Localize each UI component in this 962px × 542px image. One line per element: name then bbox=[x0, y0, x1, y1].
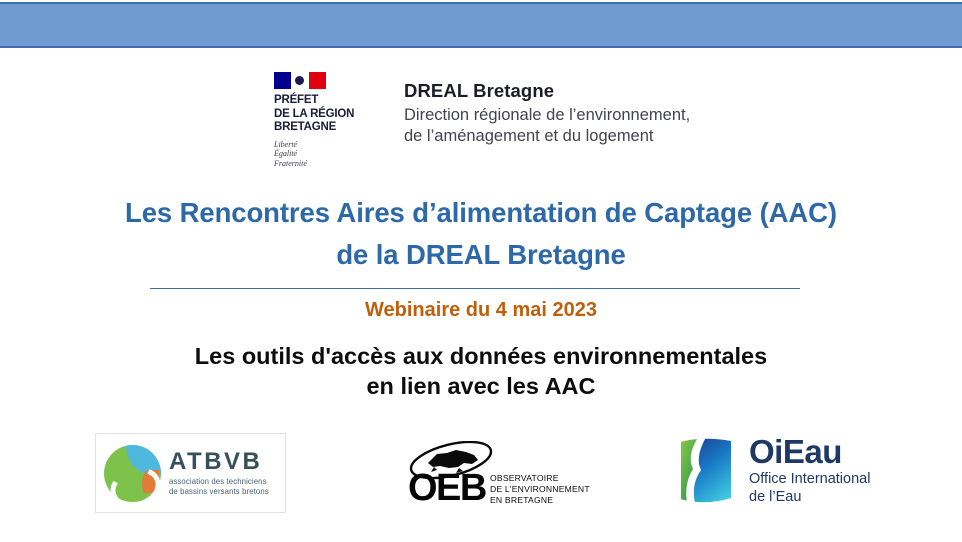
logo-atbvb: ATBVB association des techniciens de bas… bbox=[95, 433, 286, 513]
prefet-line-2: DE LA RÉGION bbox=[274, 108, 372, 122]
page-subtitle-line-1: Les outils d'accès aux données environne… bbox=[0, 341, 962, 371]
webinar-date: Webinaire du 4 mai 2023 bbox=[0, 299, 962, 322]
header-logo-block: PRÉFET DE LA RÉGION BRETAGNE Liberté Éga… bbox=[272, 72, 690, 168]
oeb-subtitle-line-3: EN BRETAGNE bbox=[490, 495, 590, 506]
oieau-subtitle-line-2: de l’Eau bbox=[749, 489, 870, 507]
atbvb-tagline: association des techniciens de bassins v… bbox=[169, 477, 269, 498]
oeb-subtitle: OBSERVATOIRE DE L'ENVIRONNEMENT EN BRETA… bbox=[490, 473, 590, 506]
motto-egalite: Égalité bbox=[274, 149, 372, 159]
dreal-text-block: DREAL Bretagne Direction régionale de l’… bbox=[404, 72, 690, 147]
dreal-subtitle-line-2: de l’aménagement et du logement bbox=[404, 126, 690, 147]
oieau-river-gradient-icon bbox=[675, 436, 737, 506]
oieau-subtitle: Office International de l’Eau bbox=[749, 471, 870, 506]
partner-logo-row: ATBVB association des techniciens de bas… bbox=[0, 425, 962, 525]
page-title-line-2: de la DREAL Bretagne bbox=[0, 234, 962, 276]
oieau-wordmark: OiEau bbox=[749, 435, 870, 469]
dreal-subtitle-line-1: Direction régionale de l’environnement, bbox=[404, 105, 690, 126]
atbvb-tagline-line-1: association des techniciens bbox=[169, 477, 269, 488]
prefet-wordmark: PRÉFET DE LA RÉGION BRETAGNE bbox=[274, 94, 372, 135]
prefet-line-3: BRETAGNE bbox=[274, 121, 372, 135]
prefet-line-1: PRÉFET bbox=[274, 94, 372, 108]
page-subtitle-line-2: en lien avec les AAC bbox=[0, 371, 962, 401]
dreal-title: DREAL Bretagne bbox=[404, 80, 690, 102]
oeb-subtitle-line-2: DE L'ENVIRONNEMENT bbox=[490, 484, 590, 495]
oeb-subtitle-line-1: OBSERVATOIRE bbox=[490, 473, 590, 484]
logo-oieau: OiEau Office International de l’Eau bbox=[675, 435, 870, 506]
atbvb-circle-emblem-icon bbox=[104, 445, 161, 502]
motto-liberte: Liberté bbox=[274, 140, 372, 150]
oieau-subtitle-line-1: Office International bbox=[749, 471, 870, 489]
dreal-subtitle: Direction régionale de l’environnement, … bbox=[404, 105, 690, 147]
top-banner bbox=[0, 2, 962, 48]
republic-motto: Liberté Égalité Fraternité bbox=[274, 140, 372, 169]
page-title-line-1: Les Rencontres Aires d’alimentation de C… bbox=[0, 192, 962, 234]
prefet-logo: PRÉFET DE LA RÉGION BRETAGNE Liberté Éga… bbox=[272, 72, 372, 168]
atbvb-tagline-line-2: de bassins versants bretons bbox=[169, 487, 269, 498]
french-flag-marianne-icon bbox=[274, 72, 326, 89]
oeb-wordmark: OEB bbox=[408, 469, 486, 507]
page-title: Les Rencontres Aires d’alimentation de C… bbox=[0, 192, 962, 276]
atbvb-wordmark: ATBVB bbox=[169, 449, 269, 475]
motto-fraternite: Fraternité bbox=[274, 159, 372, 169]
logo-oeb: OEB OBSERVATOIRE DE L'ENVIRONNEMENT EN B… bbox=[404, 441, 594, 507]
title-divider bbox=[150, 288, 800, 289]
page-subtitle: Les outils d'accès aux données environne… bbox=[0, 341, 962, 401]
